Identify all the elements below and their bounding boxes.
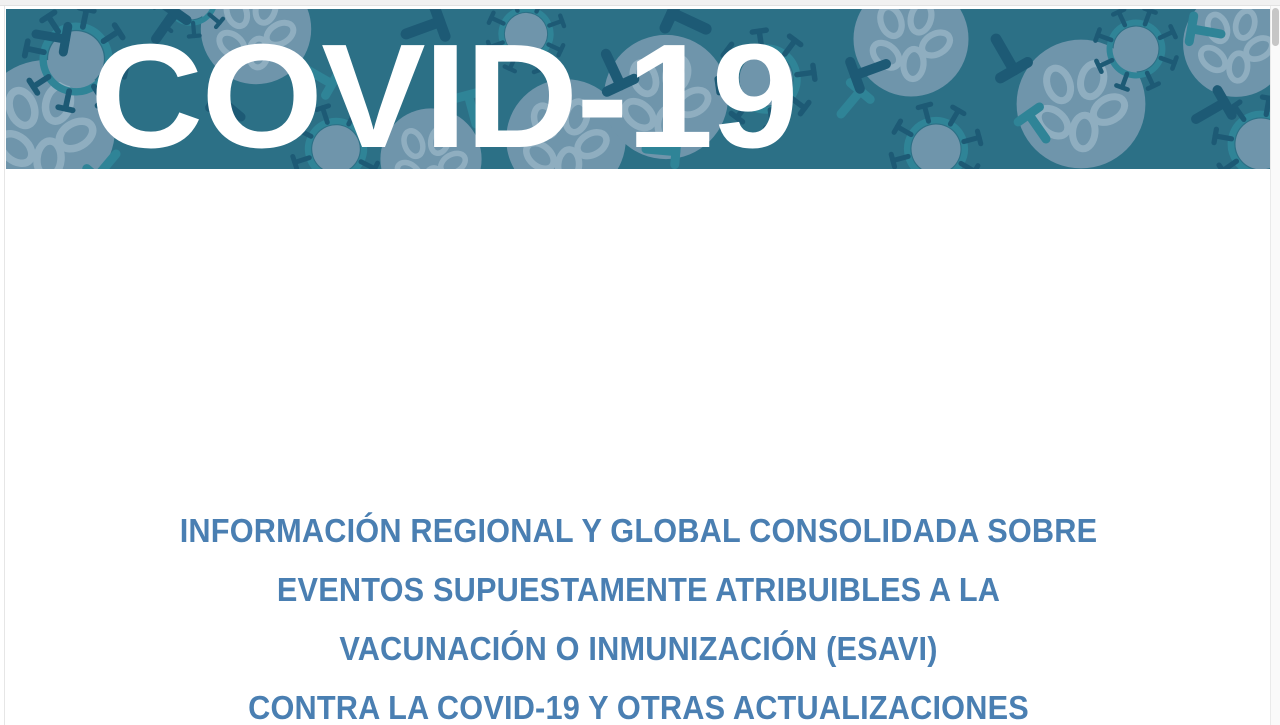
covid-banner: COVID-19: [6, 9, 1272, 169]
document-viewer: COVID-19 INFORMACIÓN REGIONAL Y GLOBAL C…: [0, 0, 1280, 725]
page-title-line-4: CONTRA LA COVID-19 Y OTRAS ACTUALIZACION…: [49, 678, 1227, 725]
page-title-line-1: INFORMACIÓN REGIONAL Y GLOBAL CONSOLIDAD…: [49, 501, 1227, 560]
banner-title: COVID-19: [90, 17, 797, 169]
vertical-scrollbar[interactable]: [1270, 6, 1280, 725]
page-title-line-2: EVENTOS SUPUESTAMENTE ATRIBUIBLES A LA: [49, 560, 1227, 619]
page-title-line-3: VACUNACIÓN O INMUNIZACIÓN (ESAVI): [49, 619, 1227, 678]
document-page: COVID-19 INFORMACIÓN REGIONAL Y GLOBAL C…: [4, 6, 1273, 725]
page-title: INFORMACIÓN REGIONAL Y GLOBAL CONSOLIDAD…: [5, 501, 1272, 725]
vertical-scrollbar-thumb[interactable]: [1272, 8, 1279, 46]
